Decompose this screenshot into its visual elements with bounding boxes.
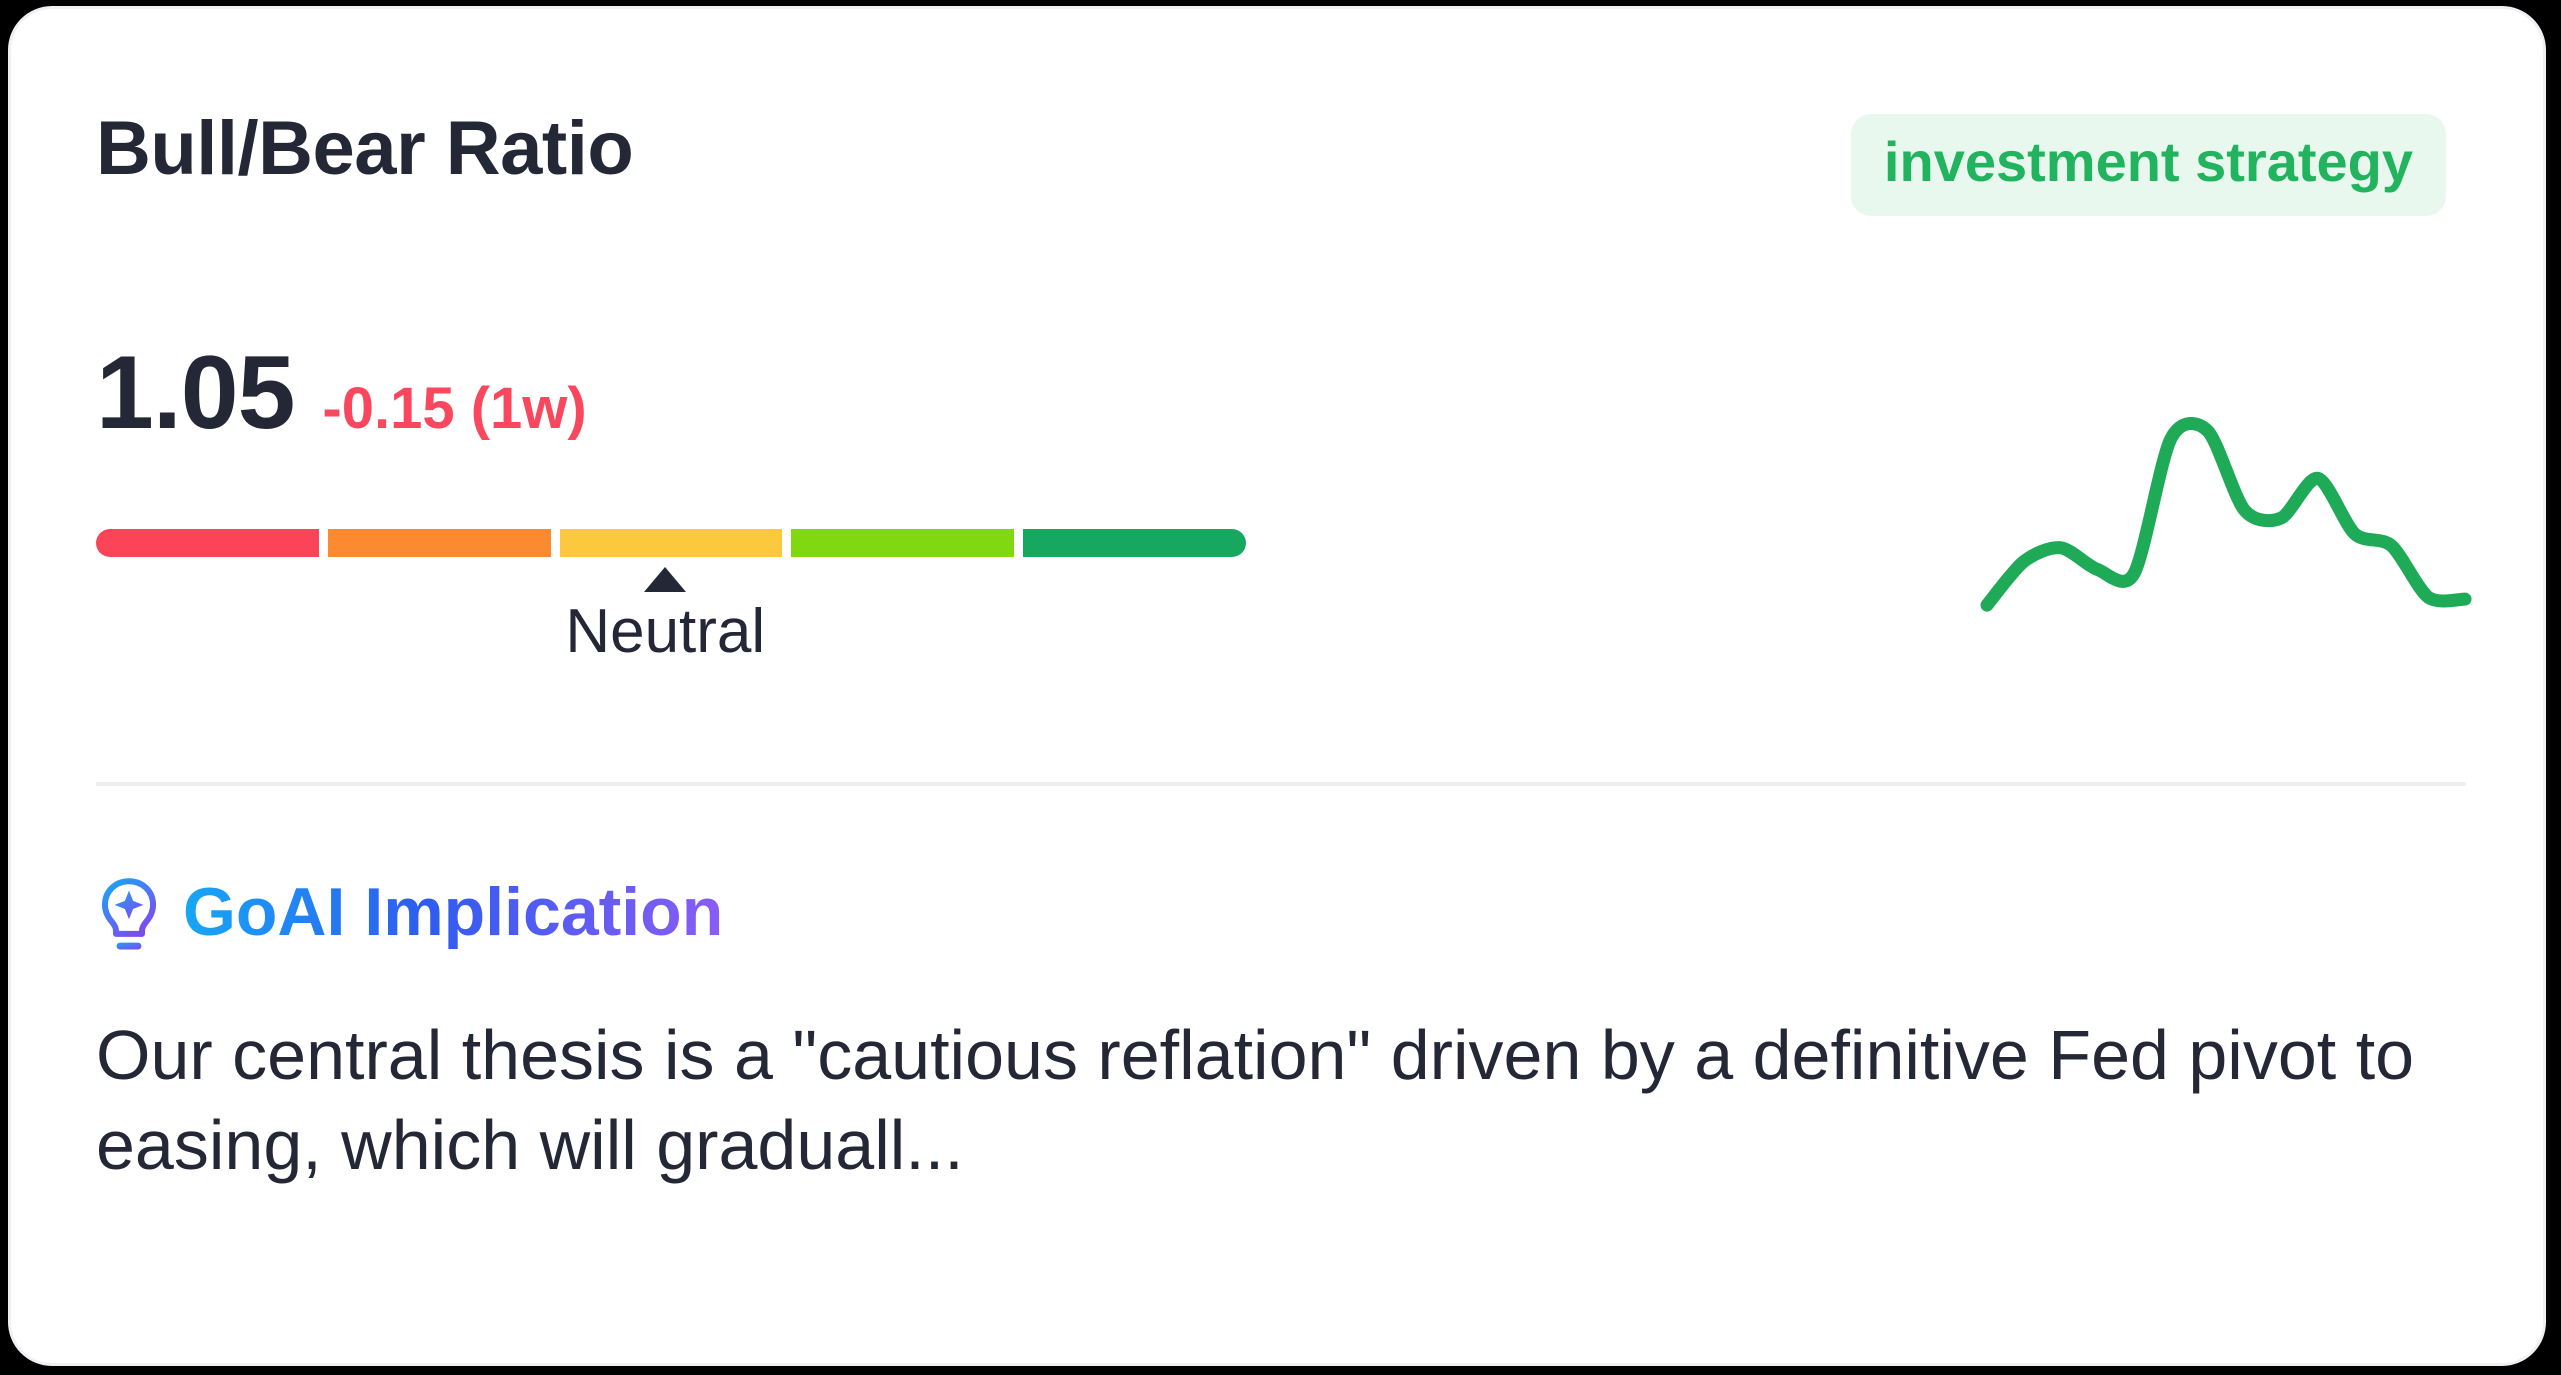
sparkline-path bbox=[1987, 423, 2465, 605]
metric-card[interactable]: Bull/Bear Ratio investment strategy 1.05… bbox=[8, 6, 2546, 1366]
insight-header: GoAI Implication bbox=[96, 865, 2483, 965]
gauge-bar bbox=[96, 529, 1246, 557]
sentiment-gauge[interactable]: Neutral bbox=[96, 529, 1246, 557]
status-badge: investment strategy bbox=[1851, 114, 2446, 216]
gauge-segment-extreme-bullish bbox=[1023, 529, 1246, 557]
trend-sparkline-chart bbox=[1971, 399, 2481, 629]
gauge-segment-neutral bbox=[560, 529, 783, 557]
insight-title: GoAI Implication bbox=[183, 878, 723, 952]
gauge-segment-extreme-bearish bbox=[96, 529, 319, 557]
page-title: Bull/Bear Ratio bbox=[96, 111, 633, 187]
gauge-label: Neutral bbox=[565, 595, 765, 669]
insight-section: GoAI Implication Our central thesis is a… bbox=[96, 865, 2483, 1190]
gauge-marker-triangle-icon bbox=[644, 567, 686, 592]
gauge-segment-bearish bbox=[328, 529, 551, 557]
metric-delta: -0.15 (1w) bbox=[322, 380, 586, 438]
card-header: Bull/Bear Ratio investment strategy bbox=[96, 101, 2487, 231]
lightbulb-sparkle-icon bbox=[96, 876, 162, 954]
insight-body-text: Our central thesis is a "cautious reflat… bbox=[96, 1011, 2483, 1190]
metric-value-row: 1.05 -0.15 (1w) bbox=[96, 341, 587, 445]
gauge-segment-bullish bbox=[791, 529, 1014, 557]
metric-value: 1.05 bbox=[96, 341, 294, 445]
section-divider bbox=[96, 782, 2466, 786]
